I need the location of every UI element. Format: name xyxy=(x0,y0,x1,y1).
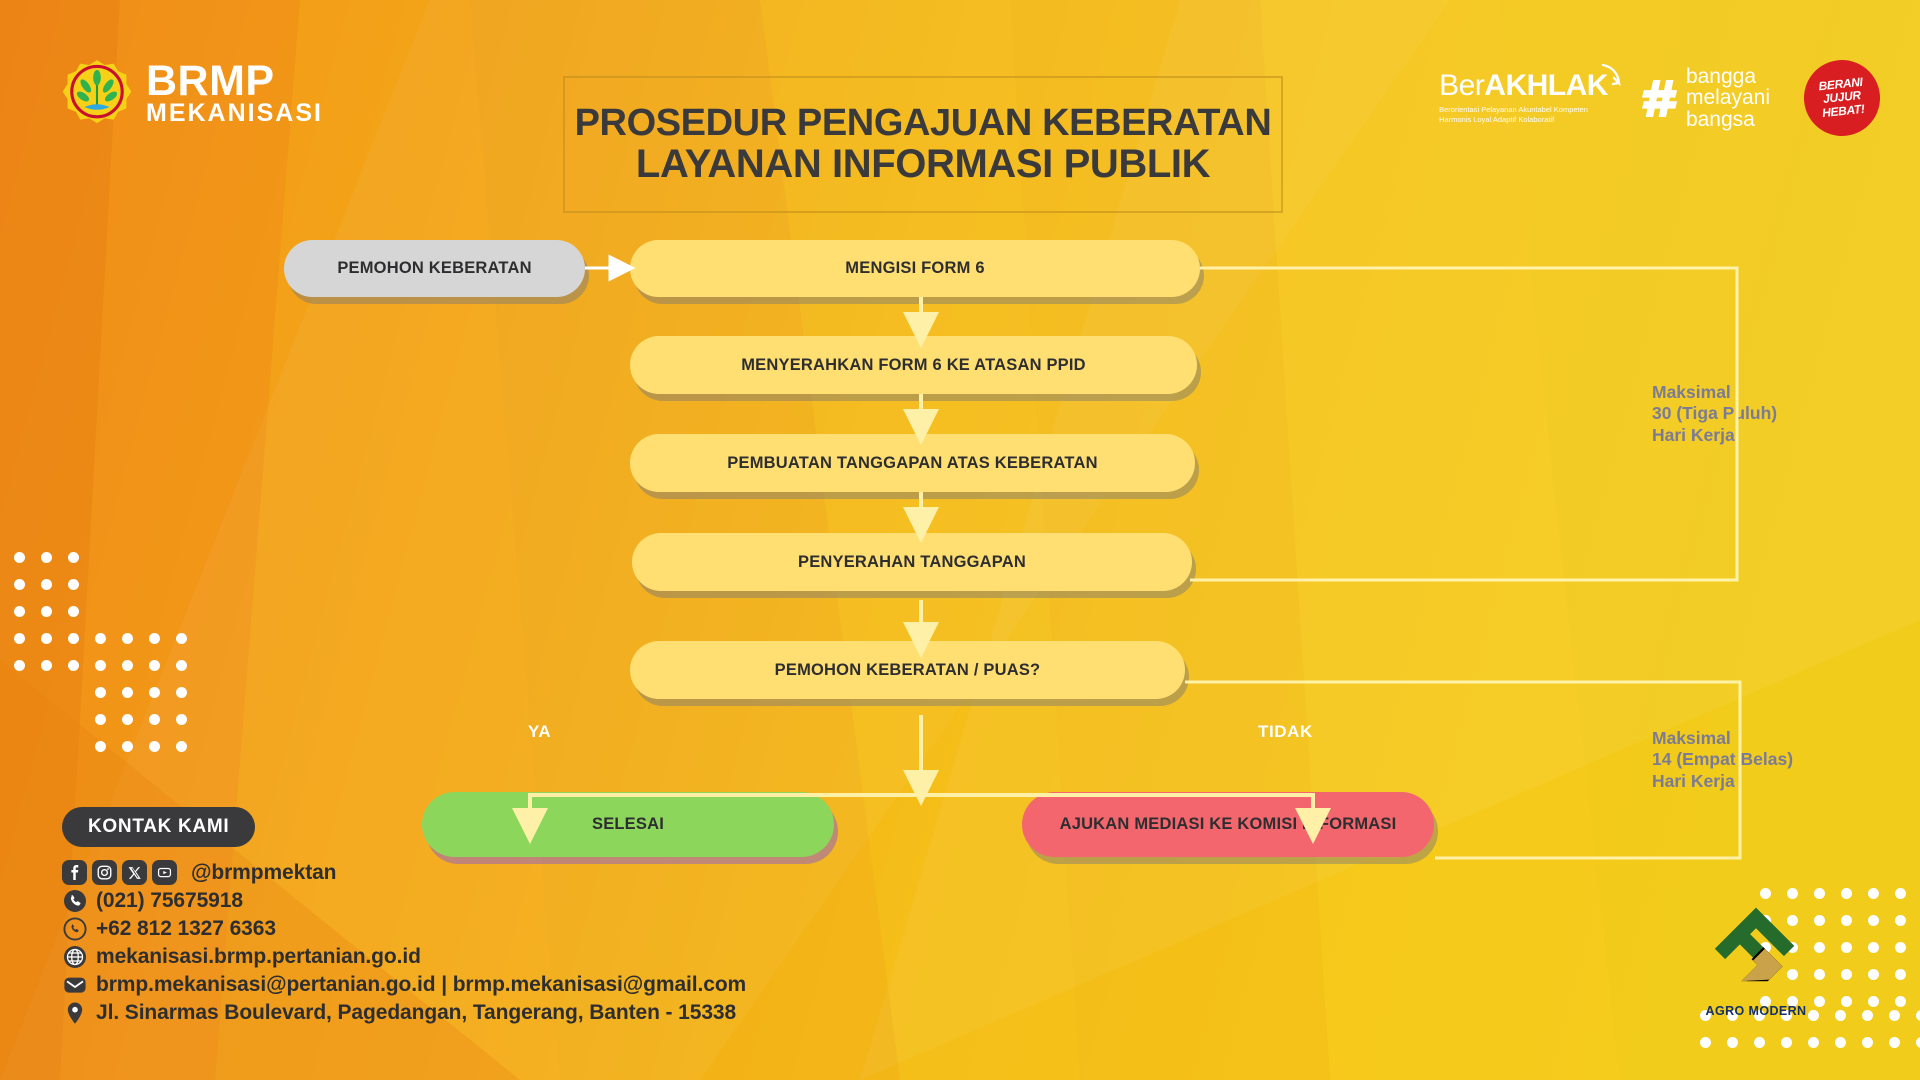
bangga-melayani-bangsa-logo: bangga melayani bangsa xyxy=(1642,66,1770,130)
kementan-seal-icon xyxy=(62,58,132,128)
youtube-icon[interactable] xyxy=(152,860,177,885)
kontak-kami-badge: KONTAK KAMI xyxy=(62,807,255,847)
office-address: Jl. Sinarmas Boulevard, Pagedangan, Tang… xyxy=(96,1001,736,1025)
instagram-icon[interactable] xyxy=(92,860,117,885)
hashtag-icon xyxy=(1642,78,1679,119)
social-handle: @brmpmektan xyxy=(191,861,336,885)
website-url[interactable]: mekanisasi.brmp.pertanian.go.id xyxy=(96,945,421,969)
berakhlak-logo: BerAKHLAK Berorientasi Pelayanan Akuntab… xyxy=(1439,71,1608,125)
globe-icon xyxy=(62,944,87,969)
contact-row-website: mekanisasi.brmp.pertanian.go.id xyxy=(62,944,746,969)
berakhlak-sub2: Harmonis Loyal Adaptif Kolaboratif xyxy=(1439,115,1608,125)
page-title-line1: PROSEDUR PENGAJUAN KEBERATAN xyxy=(575,104,1272,144)
page-title: PROSEDUR PENGAJUAN KEBERATAN LAYANAN INF… xyxy=(563,76,1283,213)
berakhlak-prefix: Ber xyxy=(1439,69,1484,102)
agro-modern-label: AGRO MODERN xyxy=(1706,1004,1807,1018)
contact-row-address: Jl. Sinarmas Boulevard, Pagedangan, Tang… xyxy=(62,1000,746,1025)
whatsapp-icon xyxy=(62,916,87,941)
whatsapp-number: +62 812 1327 6363 xyxy=(96,917,276,941)
contact-section: KONTAK KAMI @brmp xyxy=(62,807,746,1028)
email-address[interactable]: brmp.mekanisasi@pertanian.go.id | brmp.m… xyxy=(96,973,746,997)
brmp-logo: BRMP MEKANISASI xyxy=(62,58,323,128)
email-icon xyxy=(62,972,87,997)
partner-logos: BerAKHLAK Berorientasi Pelayanan Akuntab… xyxy=(1439,60,1880,136)
brand-line1: BRMP xyxy=(146,61,323,102)
location-pin-icon xyxy=(62,1000,87,1025)
contact-row-email: brmp.mekanisasi@pertanian.go.id | brmp.m… xyxy=(62,972,746,997)
brand-line2: MEKANISASI xyxy=(146,102,323,126)
x-twitter-icon[interactable] xyxy=(122,860,147,885)
berakhlak-main: AKHLAK xyxy=(1484,69,1608,102)
social-icon-set xyxy=(62,860,177,885)
berakhlak-sub1: Berorientasi Pelayanan Akuntabel Kompete… xyxy=(1439,105,1608,115)
contact-row-phone: (021) 75675918 xyxy=(62,888,746,913)
page-title-line2: LAYANAN INFORMASI PUBLIK xyxy=(636,143,1210,185)
agro-modern-mark-icon xyxy=(1704,898,1808,1002)
facebook-icon[interactable] xyxy=(62,860,87,885)
phone-number: (021) 75675918 xyxy=(96,889,243,913)
contact-row-social: @brmpmektan xyxy=(62,860,746,885)
bangga-line1: bangga xyxy=(1686,66,1770,87)
bangga-line2: melayani xyxy=(1686,87,1770,108)
agro-modern-logo: AGRO MODERN xyxy=(1704,898,1808,1018)
berani-jujur-hebat-logo: BERANI JUJUR HEBAT! xyxy=(1800,56,1884,140)
bangga-line3: bangsa xyxy=(1686,109,1770,130)
berakhlak-swoosh-icon xyxy=(1600,63,1622,89)
contact-row-whatsapp: +62 812 1327 6363 xyxy=(62,916,746,941)
berani-line3: HEBAT! xyxy=(1821,102,1865,120)
header: BRMP MEKANISASI PROSEDUR PENGAJUAN KEBER… xyxy=(0,0,1920,200)
phone-icon xyxy=(62,888,87,913)
